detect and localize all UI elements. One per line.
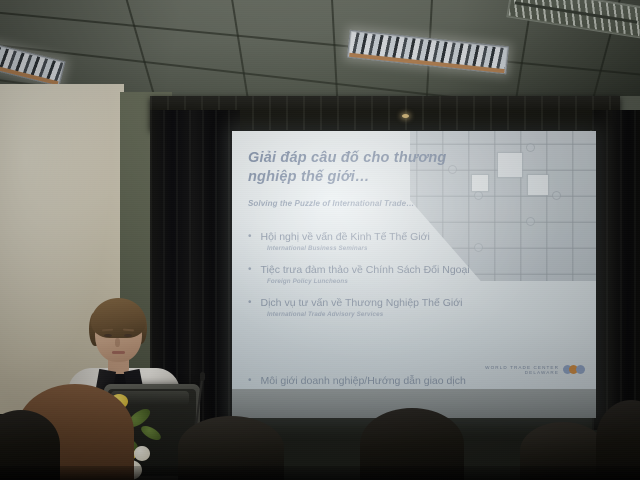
projection-screen: Giải đáp câu đố cho thương nghiệp thế gi… [232, 131, 596, 418]
curtain-right [592, 110, 640, 430]
photo-scene: Giải đáp câu đố cho thương nghiệp thế gi… [0, 0, 640, 480]
small-ceiling-spotlight-icon [402, 114, 409, 118]
microphone-icon [200, 372, 205, 381]
slide: Giải đáp câu đố cho thương nghiệp thế gi… [232, 131, 596, 389]
presenter-hair [91, 298, 146, 338]
foreground-shadow [0, 466, 640, 480]
